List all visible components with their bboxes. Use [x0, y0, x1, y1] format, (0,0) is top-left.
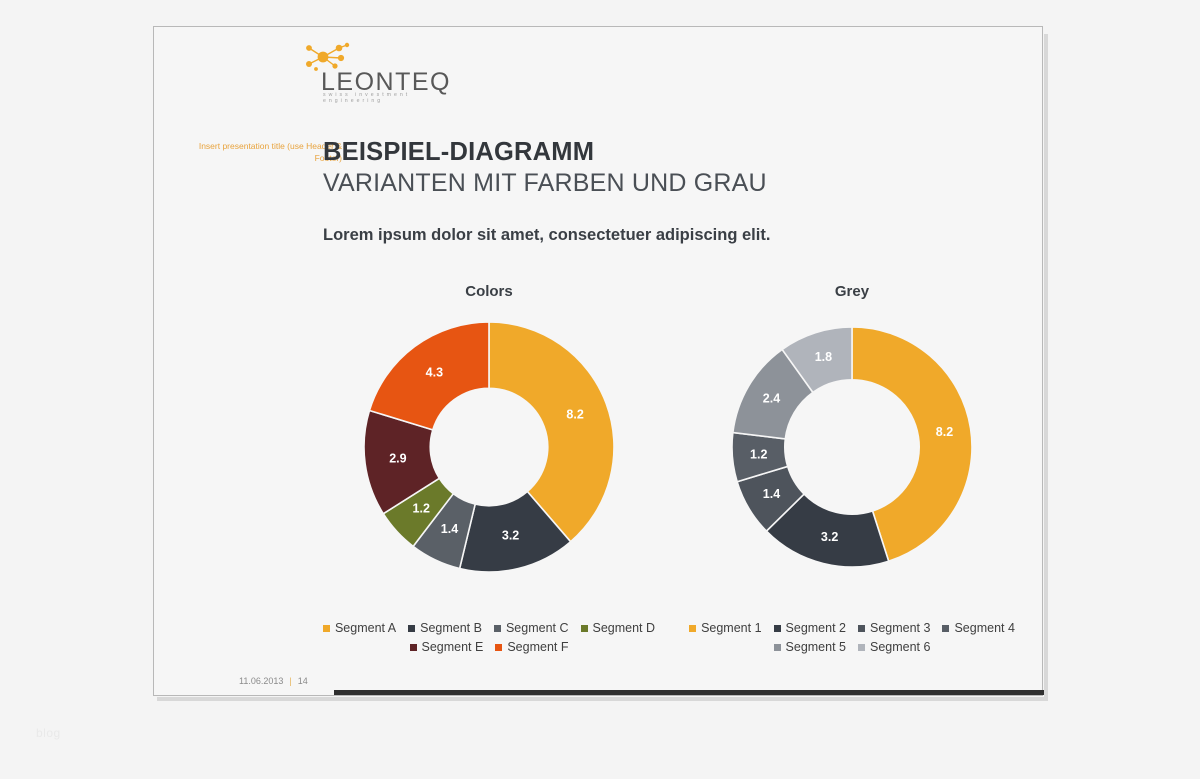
slide-footer: 11.06.2013 | 14 — [239, 676, 308, 686]
chart-panel-colors: Colors 8.23.21.41.22.94.3 — [309, 283, 669, 582]
chart-legend-grey: Segment 1Segment 2Segment 3Segment 4Segm… — [662, 621, 1042, 654]
footer-separator: | — [289, 676, 291, 686]
page-subtitle: VARIANTEN MIT FARBEN UND GRAU — [323, 169, 767, 198]
legend-item-label: Segment C — [506, 621, 569, 635]
legend-swatch-icon — [858, 625, 865, 632]
page-title: BEISPIEL-DIAGRAMM — [323, 138, 594, 167]
slide-page-number: 14 — [298, 676, 308, 686]
legend-swatch-icon — [323, 625, 330, 632]
legend-swatch-icon — [689, 625, 696, 632]
legend-item[interactable]: Segment 5 — [774, 640, 846, 654]
legend-item-label: Segment D — [593, 621, 656, 635]
legend-item[interactable]: Segment 1 — [689, 621, 761, 635]
legend-item[interactable]: Segment A — [323, 621, 396, 635]
leonteq-logo: LEONTEQ swiss investment engineering — [299, 42, 449, 102]
legend-item[interactable]: Segment C — [494, 621, 569, 635]
chart-title-grey: Grey — [672, 283, 1032, 300]
legend-swatch-icon — [942, 625, 949, 632]
legend-item[interactable]: Segment 4 — [942, 621, 1014, 635]
slide-shadow-right — [1044, 34, 1048, 697]
donut-chart-grey: 8.23.21.41.22.41.8 — [672, 312, 1032, 582]
legend-swatch-icon — [494, 625, 501, 632]
legend-item[interactable]: Segment F — [495, 640, 568, 654]
legend-item-label: Segment B — [420, 621, 482, 635]
legend-item-label: Segment F — [507, 640, 568, 654]
legend-swatch-icon — [495, 644, 502, 651]
chart-title-colors: Colors — [309, 283, 669, 300]
donut-slice-label: 2.9 — [389, 452, 406, 466]
presentation-slide: LEONTEQ swiss investment engineering Ins… — [153, 26, 1043, 696]
legend-item-label: Segment 4 — [954, 621, 1014, 635]
legend-swatch-icon — [410, 644, 417, 651]
legend-item[interactable]: Segment 2 — [774, 621, 846, 635]
slide-bottom-rule — [334, 690, 1044, 695]
donut-slice-label: 3.2 — [502, 529, 519, 543]
legend-item-label: Segment 5 — [786, 640, 846, 654]
legend-item[interactable]: Segment E — [410, 640, 484, 654]
legend-item[interactable]: Segment 3 — [858, 621, 930, 635]
chart-legend-colors: Segment ASegment BSegment CSegment DSegm… — [299, 621, 679, 654]
legend-swatch-icon — [408, 625, 415, 632]
donut-slice-label: 8.2 — [936, 425, 953, 439]
slide-shadow-bottom — [157, 697, 1048, 701]
donut-slice-label: 3.2 — [821, 530, 838, 544]
slide-date: 11.06.2013 — [239, 676, 283, 686]
legend-item-label: Segment 1 — [701, 621, 761, 635]
legend-item[interactable]: Segment B — [408, 621, 482, 635]
blog-watermark: blog — [36, 726, 61, 740]
chart-panel-grey: Grey 8.23.21.41.22.41.8 — [672, 283, 1032, 582]
donut-slice-label: 2.4 — [763, 392, 780, 406]
legend-item-label: Segment A — [335, 621, 396, 635]
legend-item-label: Segment 3 — [870, 621, 930, 635]
donut-slice-label: 1.8 — [815, 350, 832, 364]
legend-item[interactable]: Segment D — [581, 621, 656, 635]
donut-slice-label: 8.2 — [566, 407, 583, 421]
legend-item-label: Segment 6 — [870, 640, 930, 654]
donut-svg-colors: 8.23.21.41.22.94.3 — [344, 312, 634, 582]
donut-slice-label: 1.2 — [413, 501, 430, 515]
donut-svg-grey: 8.23.21.41.22.41.8 — [707, 312, 997, 582]
donut-slice-label: 1.4 — [441, 522, 458, 536]
donut-slice-label: 4.3 — [426, 365, 443, 379]
legend-item-label: Segment 2 — [786, 621, 846, 635]
legend-swatch-icon — [581, 625, 588, 632]
legend-item-label: Segment E — [422, 640, 484, 654]
legend-swatch-icon — [774, 625, 781, 632]
legend-swatch-icon — [858, 644, 865, 651]
legend-swatch-icon — [774, 644, 781, 651]
legend-item[interactable]: Segment 6 — [858, 640, 930, 654]
presentation-title-placeholder: Insert presentation title (use Header & … — [184, 140, 342, 164]
logo-tagline: swiss investment engineering — [323, 92, 449, 104]
donut-chart-colors: 8.23.21.41.22.94.3 — [309, 312, 669, 582]
donut-slice-label: 1.2 — [750, 447, 767, 461]
lead-paragraph: Lorem ipsum dolor sit amet, consectetuer… — [323, 226, 770, 245]
donut-slice-label: 1.4 — [763, 487, 780, 501]
